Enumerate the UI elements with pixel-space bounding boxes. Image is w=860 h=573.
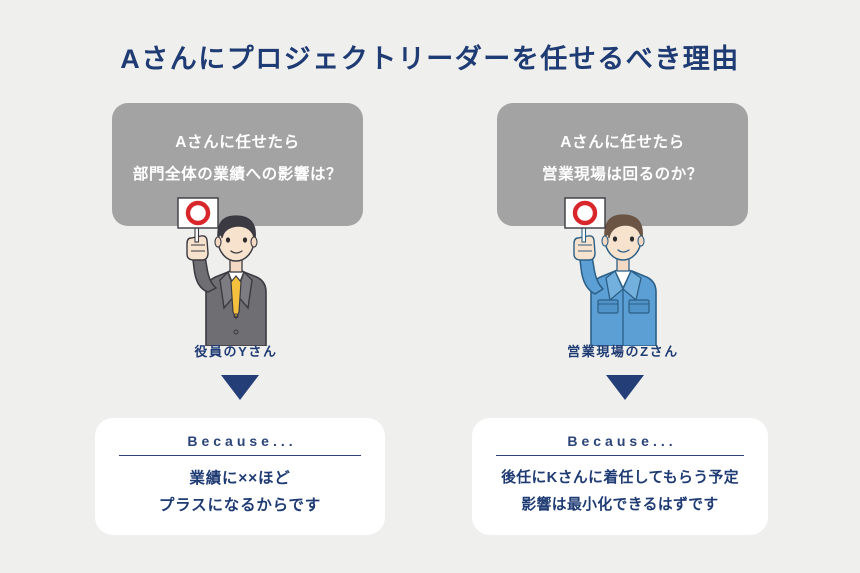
arrow-down-executive <box>221 375 259 400</box>
reason-line-1: 後任にKさんに着任してもらう予定 <box>472 465 768 492</box>
person-label-executive: 役員のYさん <box>136 341 336 360</box>
reason-card-executive: Because... 業績に××ほど プラスになるからです <box>95 418 385 535</box>
reason-body: 後任にKさんに着任してもらう予定 影響は最小化できるはずです <box>472 456 768 519</box>
reason-line-2: 影響は最小化できるはずです <box>472 492 768 519</box>
reason-line-1: 業績に××ほど <box>95 465 385 492</box>
person-label-field-sales: 営業現場のZさん <box>523 341 723 360</box>
person-illustration-field-sales <box>553 196 693 346</box>
reason-card-field-sales: Because... 後任にKさんに着任してもらう予定 影響は最小化できるはずで… <box>472 418 768 535</box>
because-heading: Because... <box>95 431 385 451</box>
person-illustration-executive <box>166 196 306 346</box>
bubble-line-2: 部門全体の業績への影響は？ <box>112 159 363 191</box>
because-heading: Because... <box>472 431 768 451</box>
page-title: Aさんにプロジェクトリーダーを任せるべき理由 <box>0 37 860 76</box>
reason-body: 業績に××ほど プラスになるからです <box>95 456 385 519</box>
bubble-line-1: Aさんに任せたら <box>112 127 363 159</box>
arrow-down-field-sales <box>606 375 644 400</box>
bubble-line-2: 営業現場は回るのか？ <box>497 159 748 191</box>
reason-line-2: プラスになるからです <box>95 492 385 519</box>
bubble-line-1: Aさんに任せたら <box>497 127 748 159</box>
diagram-canvas: Aさんにプロジェクトリーダーを任せるべき理由 Aさんに任せたら 部門全体の業績へ… <box>0 0 860 573</box>
